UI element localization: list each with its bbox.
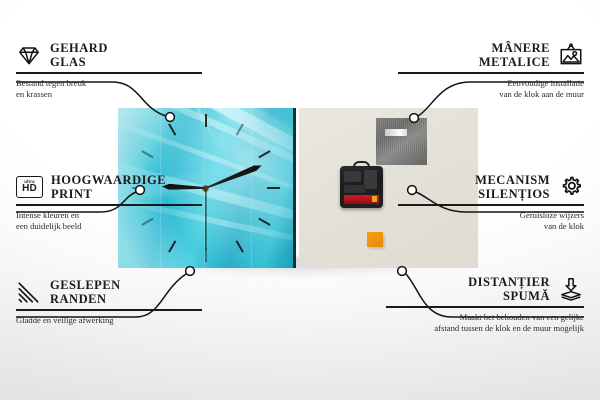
metal-hanger-plate <box>376 118 427 165</box>
feature-geslepen-randen[interactable]: GESLEPENRANDEN Gladde en veilige afwerki… <box>16 278 202 326</box>
feature-manere-metalice[interactable]: MÂNEREMETALICE Eenvoudige installatie va… <box>398 41 584 101</box>
framed-picture-icon <box>558 42 584 68</box>
feature-header: GESLEPENRANDEN <box>16 278 202 306</box>
divider <box>16 309 202 311</box>
feature-distantier-spuma[interactable]: DISTANȚIERSPUMĂ Maakt het behouden van e… <box>386 275 584 335</box>
feature-hoogwaardige-print[interactable]: ultra HD HOOGWAARDIGEPRINT Intense kleur… <box>16 173 202 233</box>
feature-title: HOOGWAARDIGEPRINT <box>51 173 166 201</box>
feature-description: Intense kleuren en een duidelijk beeld <box>16 210 202 233</box>
feature-mecanism-silentios[interactable]: MECANISMSILENȚIOS Geruisloze wijzers van… <box>398 173 584 233</box>
foam-spacer <box>367 232 383 247</box>
feature-description: Maakt het behouden van een gelijke afsta… <box>386 312 584 335</box>
quartz-movement <box>340 166 383 208</box>
feature-description: Gladde en veilige afwerking <box>16 315 202 327</box>
feature-gehard-glas[interactable]: GEHARDGLAS Bestand tegen breuk en krasse… <box>16 41 202 101</box>
clock-center-pin <box>203 186 208 191</box>
divider <box>398 72 584 74</box>
feature-header: MÂNEREMETALICE <box>398 41 584 69</box>
feature-title: GEHARDGLAS <box>50 41 108 69</box>
movement-housing <box>340 166 383 208</box>
clock-second-hand <box>205 188 206 250</box>
feature-header: ultra HD HOOGWAARDIGEPRINT <box>16 173 202 201</box>
ultra-hd-icon: ultra HD <box>16 176 43 198</box>
feature-description: Eenvoudige installatie van de klok aan d… <box>398 78 584 101</box>
diamond-icon <box>16 42 42 68</box>
feature-description: Geruisloze wijzers van de klok <box>398 210 584 233</box>
divider <box>16 72 202 74</box>
feature-header: MECANISMSILENȚIOS <box>398 173 584 201</box>
beveled-edges-icon <box>16 279 42 305</box>
divider <box>398 204 584 206</box>
feature-title: GESLEPENRANDEN <box>50 278 121 306</box>
divider <box>16 204 202 206</box>
feature-header: GEHARDGLAS <box>16 41 202 69</box>
feature-title: MÂNEREMETALICE <box>479 41 550 69</box>
gear-icon <box>558 174 584 200</box>
battery <box>344 195 379 204</box>
divider <box>386 306 584 308</box>
feature-title: DISTANȚIERSPUMĂ <box>468 275 550 303</box>
feature-description: Bestand tegen breuk en krassen <box>16 78 202 101</box>
spacer-press-icon <box>558 276 584 302</box>
feature-title: MECANISMSILENȚIOS <box>475 173 550 201</box>
feature-header: DISTANȚIERSPUMĂ <box>386 275 584 303</box>
